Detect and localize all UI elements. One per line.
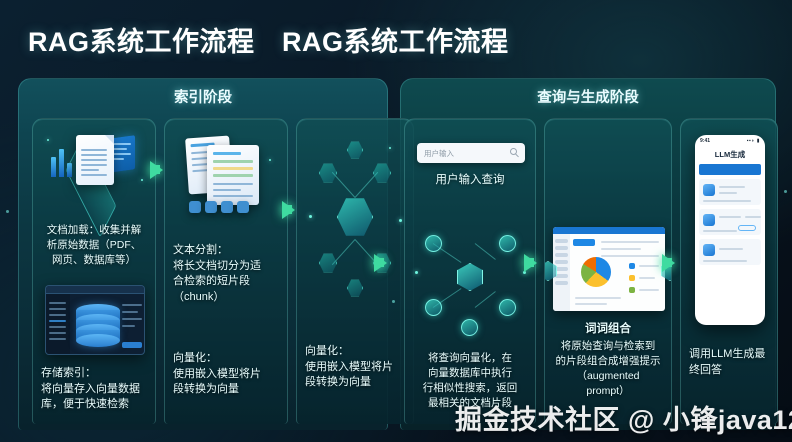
card-text-splitting-caption: 文本分割： 将长文档切分为适 合检索的短片段 （chunk） bbox=[165, 243, 287, 305]
dashboard-illustration bbox=[545, 119, 672, 319]
storage-index-illustration bbox=[33, 279, 156, 365]
phone-result-item[interactable] bbox=[699, 179, 761, 205]
phone-status-bar: 9:41 ▪▪◗ ▮ bbox=[695, 135, 765, 146]
search-input[interactable]: 用户输入 bbox=[417, 143, 525, 163]
search-icon[interactable] bbox=[510, 148, 517, 155]
document-loading-illustration bbox=[33, 119, 156, 219]
ambient-dot bbox=[392, 300, 395, 303]
phone-action-button[interactable] bbox=[738, 225, 756, 231]
phone-status-time: 9:41 bbox=[700, 138, 710, 144]
card-prompt-composition-caption: 将原始查询与检索到 的片段组合成增强提示 （augmented prompt） bbox=[545, 339, 671, 399]
result-icon bbox=[703, 214, 715, 226]
arrow-card2-to-card3 bbox=[282, 205, 292, 214]
card-prompt-composition-title: 词词组合 bbox=[545, 321, 671, 337]
card-storage-index-caption: 存储索引： 将向量存入向量数据 库，便于快速检索 bbox=[33, 366, 155, 413]
panel-query-generation-heading: 查询与生成阶段 bbox=[401, 79, 775, 113]
vector-network-illustration bbox=[297, 119, 414, 319]
phone-result-item[interactable] bbox=[699, 239, 761, 265]
phone-app-title: LLM生成 bbox=[695, 146, 765, 164]
arrow-card4-to-card5 bbox=[524, 258, 534, 267]
result-icon bbox=[703, 184, 715, 196]
card-user-query[interactable]: 用户输入 用户输入查询 将查询向量化，在 向量数据库中执行 行相似性搜索，返回 … bbox=[404, 118, 536, 424]
card-text-splitting[interactable]: 文本分割： 将长文档切分为适 合检索的短片段 （chunk） 向量化： 使用嵌入… bbox=[164, 118, 288, 424]
phone-banner bbox=[699, 164, 761, 175]
arrow-card3-to-card4 bbox=[374, 258, 384, 267]
card-text-vectorization-caption: 向量化： 使用嵌入模型将片 段转换为向量 bbox=[165, 351, 287, 398]
search-placeholder: 用户输入 bbox=[424, 148, 454, 159]
card-llm-generation[interactable]: 9:41 ▪▪◗ ▮ LLM生成 调用LLM生成最 终回答 bbox=[680, 118, 778, 424]
watermark: 掘金技术社区 @ 小锋java1234 bbox=[455, 398, 792, 437]
card-document-loading[interactable]: 文档加载：收集并解 析原始数据（PDF、 网页、数据库等） bbox=[32, 118, 156, 424]
ambient-dot bbox=[6, 210, 9, 213]
title-bar: RAG系统工作流程 RAG系统工作流程 bbox=[0, 0, 792, 72]
arrow-card5-to-card6 bbox=[662, 258, 672, 267]
card-vectorization-caption: 向量化： 使用嵌入模型将片 段转换为向量 bbox=[297, 344, 413, 391]
card-vectorization[interactable]: 向量化： 使用嵌入模型将片 段转换为向量 bbox=[296, 118, 414, 424]
card-llm-generation-caption: 调用LLM生成最 终回答 bbox=[681, 347, 777, 378]
phone-result-item[interactable] bbox=[699, 209, 761, 235]
retrieval-cluster-illustration bbox=[405, 219, 536, 349]
page-title: RAG系统工作流程 RAG系统工作流程 bbox=[28, 20, 509, 59]
result-icon bbox=[703, 244, 715, 256]
arrow-card1-to-card2 bbox=[150, 165, 160, 174]
card-document-loading-caption: 文档加载：收集并解 析原始数据（PDF、 网页、数据库等） bbox=[33, 223, 155, 268]
signal-icon: ▪▪◗ ▮ bbox=[747, 138, 760, 144]
user-query-label: 用户输入查询 bbox=[405, 171, 535, 187]
phone-mockup: 9:41 ▪▪◗ ▮ LLM生成 bbox=[695, 135, 765, 325]
card-prompt-composition[interactable]: 词词组合 将原始查询与检索到 的片段组合成增强提示 （augmented pro… bbox=[544, 118, 672, 424]
text-splitting-illustration bbox=[165, 119, 288, 239]
panel-indexing-heading: 索引阶段 bbox=[19, 79, 387, 113]
ambient-dot bbox=[784, 190, 787, 193]
